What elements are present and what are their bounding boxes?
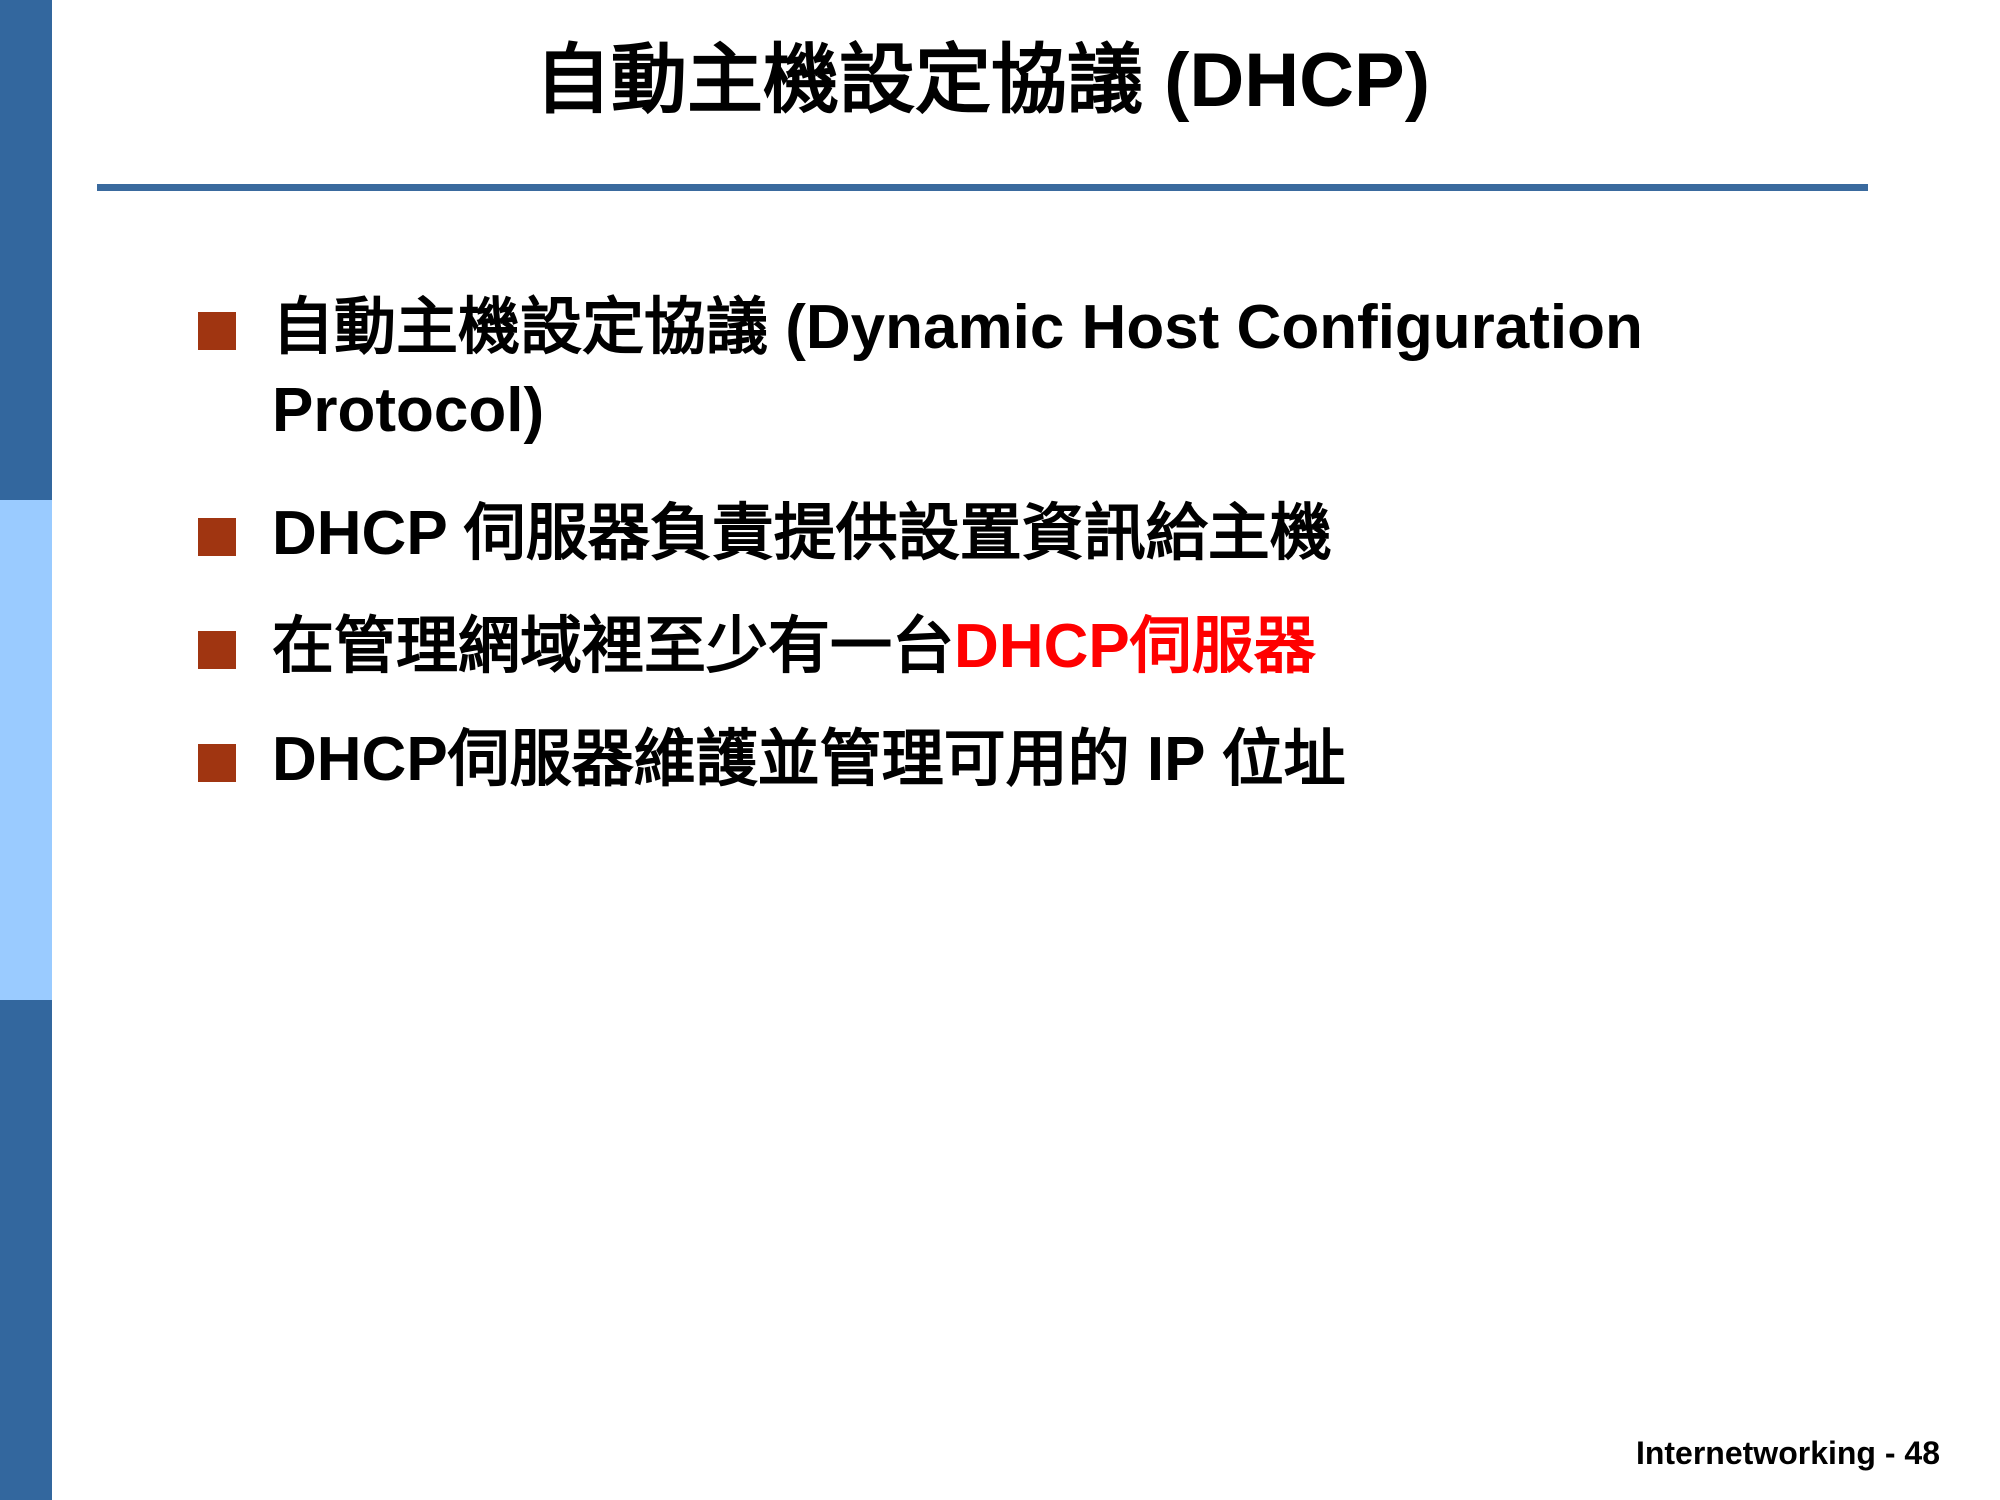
sidebar-segment-middle bbox=[0, 500, 52, 1000]
bullet-1-text: 自動主機設定協議 (Dynamic Host Configuration Pro… bbox=[272, 286, 1926, 452]
bullet-list: 自動主機設定協議 (Dynamic Host Configuration Pro… bbox=[196, 286, 1926, 801]
title-underline-rule bbox=[97, 184, 1868, 191]
list-item: 自動主機設定協議 (Dynamic Host Configuration Pro… bbox=[196, 286, 1926, 452]
square-bullet-icon bbox=[198, 631, 236, 669]
sidebar-white-gutter bbox=[52, 0, 66, 1500]
list-item: DHCP 伺服器負責提供設置資訊給主機 bbox=[196, 492, 1926, 575]
slide-canvas: 自動主機設定協議 (DHCP) 自動主機設定協議 (Dynamic Host C… bbox=[0, 0, 2000, 1500]
bullet-2-text: DHCP 伺服器負責提供設置資訊給主機 bbox=[272, 492, 1926, 575]
list-item: 在管理網域裡至少有一台DHCP伺服器 bbox=[196, 605, 1926, 688]
bullet-4-text: DHCP伺服器維護並管理可用的 IP 位址 bbox=[272, 718, 1926, 801]
bullet-3-text: 在管理網域裡至少有一台DHCP伺服器 bbox=[272, 605, 1926, 688]
square-bullet-icon bbox=[198, 518, 236, 556]
list-item: DHCP伺服器維護並管理可用的 IP 位址 bbox=[196, 718, 1926, 801]
left-decorative-sidebar bbox=[0, 0, 52, 1500]
square-bullet-icon bbox=[198, 744, 236, 782]
sidebar-segment-top bbox=[0, 0, 52, 500]
slide-title: 自動主機設定協議 (DHCP) bbox=[97, 38, 1868, 123]
bullet-3-lead-text: 在管理網域裡至少有一台 bbox=[272, 612, 954, 681]
square-bullet-icon bbox=[198, 312, 236, 350]
bullet-3-highlight-text: DHCP伺服器 bbox=[954, 612, 1316, 681]
sidebar-segment-bottom bbox=[0, 1000, 52, 1500]
slide-footer: Internetworking - 48 bbox=[1636, 1435, 1940, 1472]
